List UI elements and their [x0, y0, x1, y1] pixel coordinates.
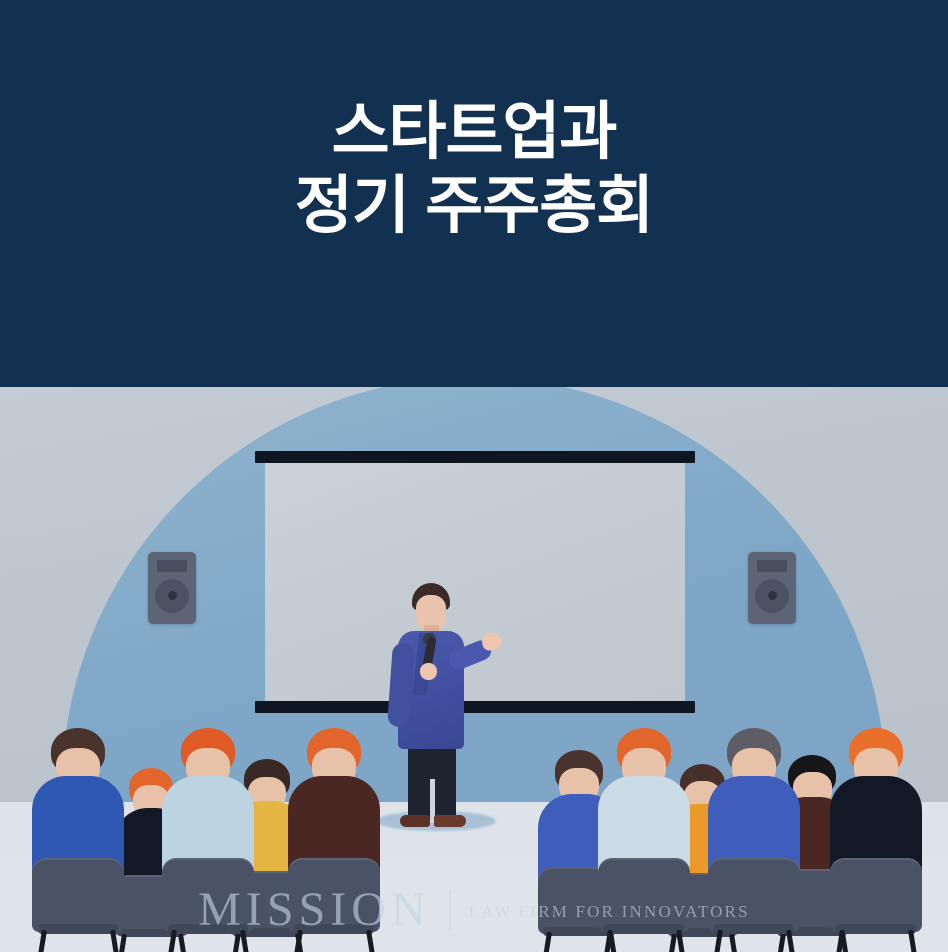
presentation-slide: 스타트업과 정기 주주총회: [0, 0, 948, 952]
speaker-woofer: [155, 579, 189, 613]
chair-seat: [714, 924, 794, 934]
chair-leg-right: [110, 930, 124, 952]
speaker-right-icon: [748, 552, 796, 624]
speaker-cone: [168, 591, 177, 600]
title-line-2: 정기 주주총회: [0, 169, 948, 243]
speaker-left-icon: [148, 552, 196, 624]
audience-chair: [160, 858, 256, 952]
chair-leg-right: [786, 930, 800, 952]
audience-chair: [706, 858, 802, 952]
chair-seat: [168, 924, 248, 934]
speaker-port: [157, 560, 187, 572]
speaker-cone: [768, 591, 777, 600]
audience-5: [286, 722, 382, 952]
presenter-hand-mic: [420, 663, 437, 680]
screen-top-bar: [255, 451, 695, 463]
chair-backrest: [162, 858, 254, 932]
audience-chair: [596, 858, 692, 952]
chair-leg-right: [676, 930, 690, 952]
speaker-woofer: [755, 579, 789, 613]
chair-backrest: [598, 858, 690, 932]
chair-seat: [38, 924, 118, 934]
audience-group: [0, 692, 948, 952]
speaker-port: [757, 560, 787, 572]
audience-11: [828, 722, 924, 952]
audience-1: [30, 722, 126, 952]
chair-seat: [604, 924, 684, 934]
conference-illustration: [0, 387, 948, 952]
chair-leg-right: [240, 930, 254, 952]
audience-3: [160, 722, 256, 952]
audience-chair: [828, 858, 924, 952]
title-band: 스타트업과 정기 주주총회: [0, 0, 948, 387]
audience-chair: [286, 858, 382, 952]
chair-backrest: [32, 858, 124, 932]
page-title: 스타트업과 정기 주주총회: [0, 95, 948, 243]
chair-seat: [836, 924, 916, 934]
chair-backrest: [708, 858, 800, 932]
chair-backrest: [288, 858, 380, 932]
chair-backrest: [830, 858, 922, 932]
audience-7: [596, 722, 692, 952]
title-line-1: 스타트업과: [0, 95, 948, 169]
audience-chair: [30, 858, 126, 952]
chair-leg-right: [908, 930, 922, 952]
chair-seat: [294, 924, 374, 934]
chair-leg-right: [366, 930, 380, 952]
audience-9: [706, 722, 802, 952]
